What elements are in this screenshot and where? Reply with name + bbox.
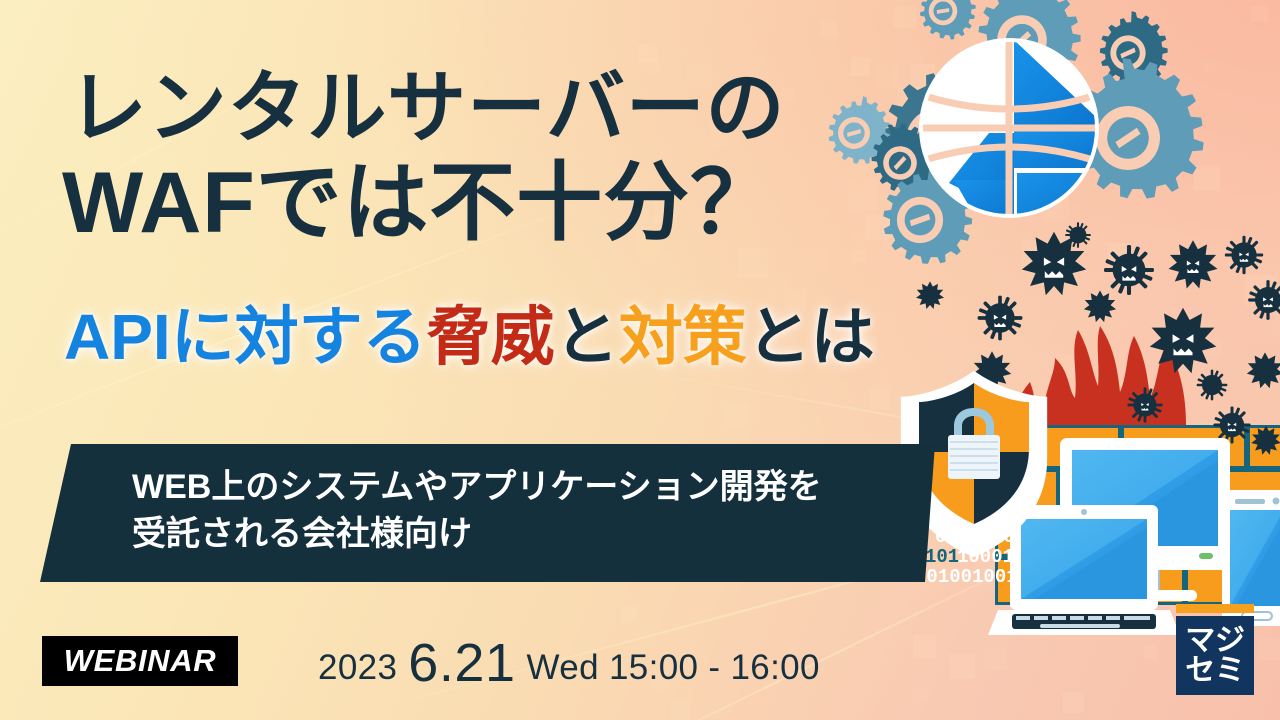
target-audience-ribbon: WEB上のシステムやアプリケーション開発を 受託される会社様向け <box>40 444 935 582</box>
mosaic-square <box>724 403 750 429</box>
svg-text:101: 101 <box>925 546 959 568</box>
logo-line-2: セミ <box>1185 656 1244 685</box>
schedule-day: 6.21 <box>408 632 515 694</box>
mosaic-square <box>638 44 657 63</box>
svg-text:100011: 100011 <box>957 546 1025 568</box>
mosaic-square <box>1190 318 1211 339</box>
mosaic-square <box>738 248 768 278</box>
ribbon-text: WEB上のシステムやアプリケーション開発を 受託される会社様向け <box>132 464 822 558</box>
mosaic-square <box>1219 431 1237 449</box>
schedule: 2023 6.21 Wed 15:00 - 16:00 <box>318 630 820 692</box>
mosaic-square <box>1098 424 1112 438</box>
mosaic-square <box>1006 95 1024 113</box>
mosaic-square <box>894 6 916 28</box>
mosaic-square <box>821 21 837 37</box>
subheadline: APIに対する脅威と対策とは <box>64 305 875 369</box>
mosaic-square <box>851 57 870 76</box>
logo-line-1: マジ <box>1185 626 1244 655</box>
webinar-banner: 0010010011 0011010 101100011 0010010011 <box>0 0 1280 720</box>
mosaic-square <box>1056 354 1080 378</box>
mosaic-square <box>865 215 890 240</box>
mosaic-square <box>1273 457 1280 480</box>
mosaic-square <box>1108 243 1129 264</box>
mosaic-square <box>1188 538 1220 570</box>
mosaic-square <box>1022 240 1055 273</box>
schedule-time: Wed 15:00 - 16:00 <box>527 648 820 688</box>
mosaic-square <box>1271 321 1280 336</box>
mosaic-square <box>913 635 936 658</box>
mosaic-square <box>622 606 637 621</box>
svg-text:0011010: 0011010 <box>935 526 1015 548</box>
subheadline-seg-api: API <box>64 301 171 373</box>
mosaic-square <box>847 179 878 210</box>
mosaic-square <box>913 688 927 702</box>
subheadline-seg-towa: とは <box>747 301 875 373</box>
schedule-year: 2023 <box>318 648 397 688</box>
webinar-badge: WEBINAR <box>42 636 238 686</box>
mosaic-square <box>1173 325 1194 346</box>
subheadline-seg-to: と <box>555 301 619 373</box>
mosaic-square <box>898 87 921 110</box>
mosaic-square <box>964 410 981 427</box>
mosaic-square <box>945 166 973 194</box>
mosaic-square <box>892 62 921 91</box>
mosaic-square <box>1194 165 1220 191</box>
mosaic-square <box>1084 567 1106 589</box>
mosaic-square <box>1202 60 1215 73</box>
mosaic-square <box>852 250 865 263</box>
mosaic-square <box>1110 380 1140 410</box>
ribbon-line-2: 受託される会社様向け <box>132 511 822 558</box>
mosaic-square <box>954 57 975 78</box>
mosaic-square <box>1229 543 1249 563</box>
mosaic-square <box>869 389 890 410</box>
mosaic-square <box>994 89 1018 113</box>
mosaic-square <box>983 484 1004 505</box>
mosaic-square <box>1101 613 1115 627</box>
svg-text:0010010011: 0010010011 <box>915 566 1029 588</box>
svg-text:010011: 010011 <box>957 506 1025 528</box>
subheadline-seg-threat: 脅威 <box>427 301 555 373</box>
mosaic-square <box>960 25 993 58</box>
mosaic-square <box>949 653 975 679</box>
mosaic-square <box>891 205 915 229</box>
mosaic-square <box>995 61 1026 92</box>
mosaic-square <box>1204 339 1221 356</box>
mosaic-square <box>1126 618 1143 635</box>
mosaic-square <box>1251 5 1268 22</box>
mosaic-square <box>853 231 871 249</box>
mosaic-square <box>1246 275 1277 306</box>
logo-accent-bar <box>1176 604 1254 613</box>
mosaic-square <box>855 166 868 179</box>
webinar-badge-label: WEBINAR <box>64 643 216 679</box>
mosaic-square <box>1144 645 1158 659</box>
subheadline-seg-measure: 対策 <box>619 301 747 373</box>
mosaic-square <box>968 227 984 243</box>
headline-line-2: WAFでは不十分？ <box>62 160 777 246</box>
mosaic-square <box>1042 193 1069 220</box>
subheadline-seg-nitaisuru: に対する <box>171 301 427 373</box>
mosaic-square <box>670 700 691 720</box>
mosaic-square <box>1029 569 1061 601</box>
mosaic-square <box>942 330 954 342</box>
mosaic-square <box>1025 389 1054 418</box>
mosaic-square <box>1054 168 1070 184</box>
mosaic-square <box>990 83 1012 105</box>
mosaic-square <box>1196 423 1218 445</box>
ribbon-line-1: WEB上のシステムやアプリケーション開発を <box>132 464 822 511</box>
mosaic-square <box>911 64 935 88</box>
mosaic-square <box>985 648 1007 670</box>
mosaic-square <box>874 63 899 88</box>
mosaic-square <box>1063 692 1084 713</box>
mosaic-square <box>1258 638 1280 660</box>
mosaic-square <box>1116 410 1146 440</box>
headline-line-1: レンタルサーバーの <box>68 68 785 147</box>
mosaic-square <box>838 111 862 135</box>
mosaic-square <box>767 281 787 301</box>
mosaic-square <box>804 248 827 271</box>
brand-logo[interactable]: マジ セミ <box>1176 616 1254 695</box>
